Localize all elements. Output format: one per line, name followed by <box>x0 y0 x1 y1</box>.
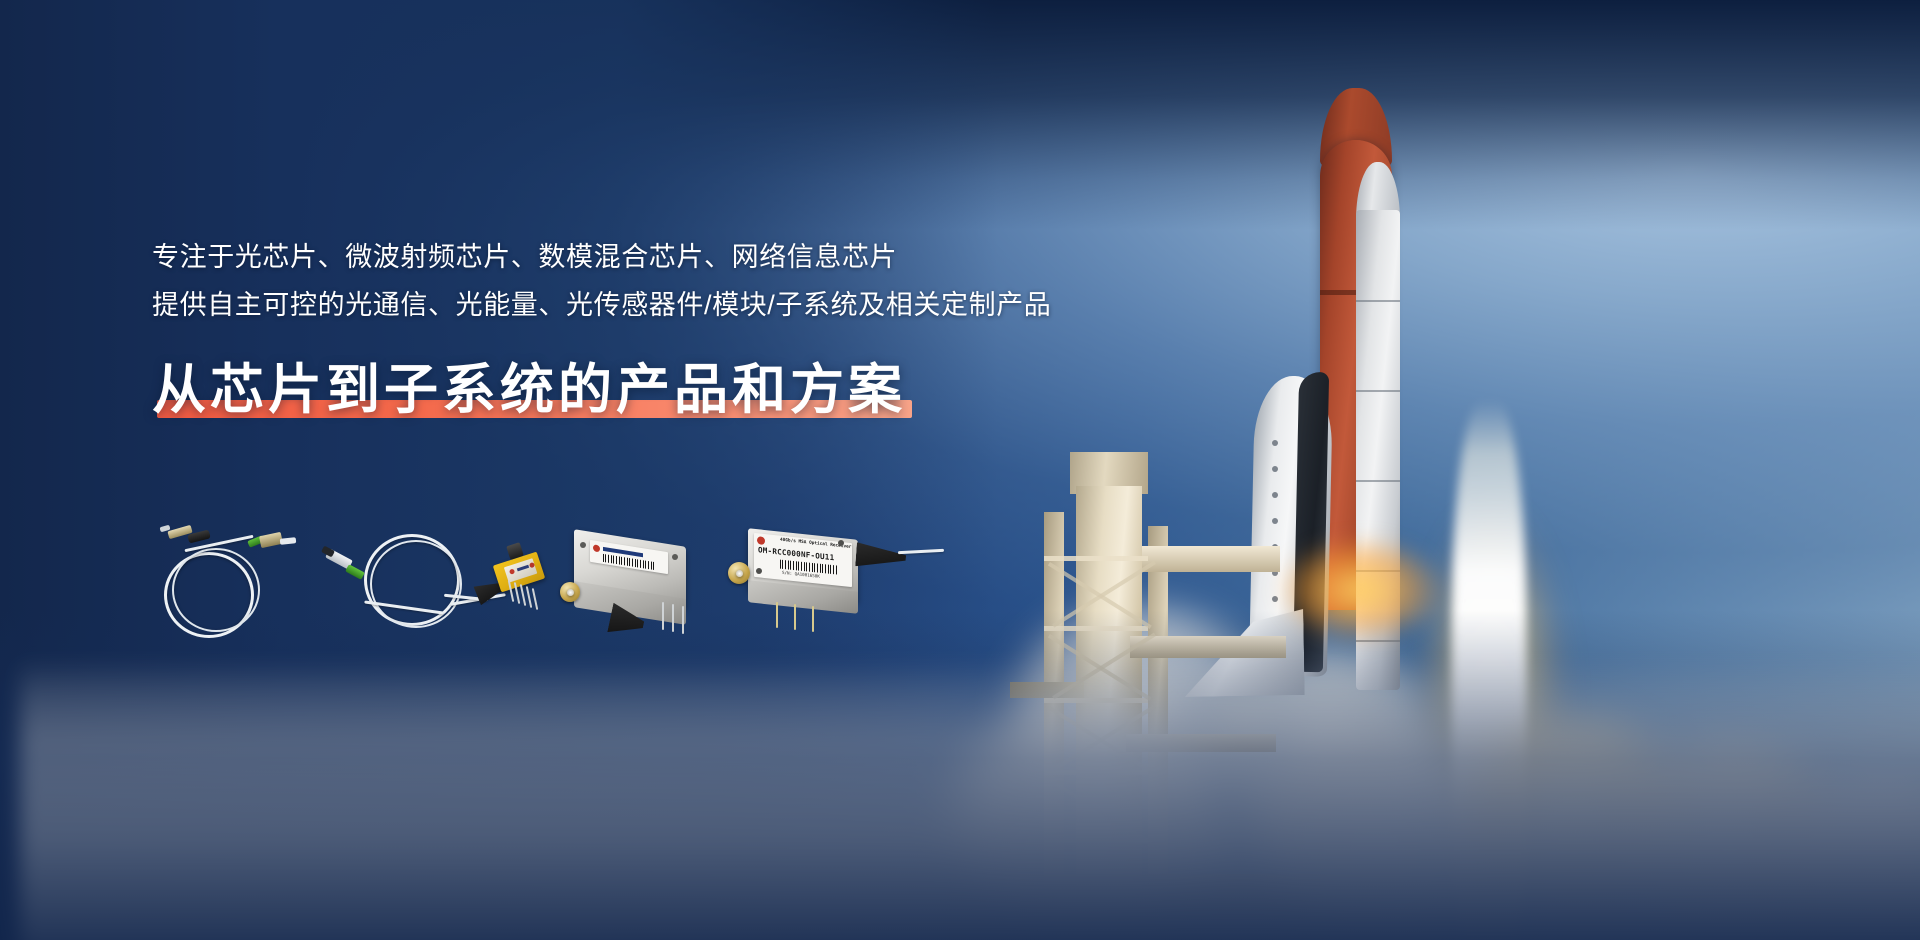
hero-headline: 从芯片到子系统的产品和方案 <box>152 345 906 424</box>
booster-segment-line <box>1356 390 1400 392</box>
sma-connector-core <box>567 589 574 596</box>
module-screw <box>580 542 586 548</box>
sma-connector-core <box>736 570 743 577</box>
receiver-part-number: OM-RCC000NF-OU11 <box>758 545 834 562</box>
receiver-screw <box>838 540 844 546</box>
hero-copy-block: 专注于光芯片、微波射频芯片、数模混合芯片、网络信息芯片 提供自主可控的光通信、光… <box>152 236 1272 424</box>
tower-gantry-upper <box>1142 546 1280 572</box>
module-pin <box>662 602 664 630</box>
hero-subtitle-line-2: 提供自主可控的光通信、光能量、光传感器件/模块/子系统及相关定制产品 <box>152 284 1272 328</box>
receiver-pin <box>812 606 814 632</box>
booster-segment-line <box>1356 300 1400 302</box>
product-fiber-patch-cable-1 <box>150 520 310 650</box>
fiber-connector-tail <box>280 537 297 545</box>
product-optical-receiver-module: 40Gb/s MSA Optical Receiver OM-RCC000NF-… <box>720 522 940 652</box>
receiver-pin <box>794 604 796 630</box>
module-screw <box>672 554 678 560</box>
fiber-connector-green <box>345 564 365 580</box>
orbiter-window-row <box>1272 440 1278 446</box>
module-pin <box>672 604 674 632</box>
fiber-boot <box>855 542 907 569</box>
pigtail-fiber <box>898 549 944 554</box>
brand-logo-icon <box>593 544 600 552</box>
module-pin <box>682 606 684 634</box>
product-photo-row: 40Gb/s MSA Optical Receiver OM-RCC000NF-… <box>150 520 930 680</box>
receiver-screw <box>756 568 762 574</box>
package-pin <box>532 588 539 610</box>
fiber-loop <box>370 540 462 628</box>
hero-banner: 40Gb/s MSA Optical Receiver OM-RCC000NF-… <box>0 0 1920 940</box>
fiber-loop <box>172 548 260 632</box>
hero-headline-wrapper: 从芯片到子系统的产品和方案 <box>152 345 906 424</box>
butterfly-package-body <box>493 552 545 593</box>
product-butterfly-laser-module <box>450 530 540 640</box>
brand-logo-icon <box>757 536 765 545</box>
receiver-pin <box>776 602 778 628</box>
product-rf-metal-module <box>550 520 710 650</box>
hero-subtitle-line-1: 专注于光芯片、微波射频芯片、数模混合芯片、网络信息芯片 <box>152 236 1272 280</box>
tower-truss <box>1044 556 1148 561</box>
